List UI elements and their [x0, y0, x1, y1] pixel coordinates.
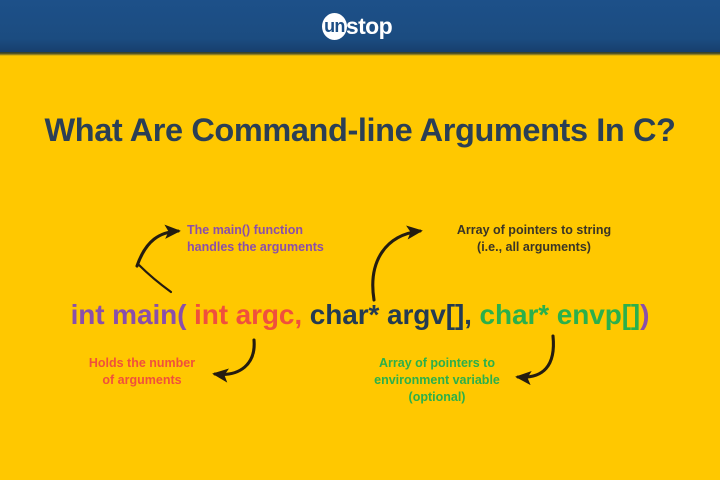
arrow-to-argc-annotation [215, 340, 254, 374]
logo-word-stop: stop [346, 13, 392, 40]
code-signature: int main( int argc, char* argv[], char* … [0, 299, 720, 331]
header-divider [0, 52, 720, 56]
page-title: What Are Command-line Arguments In C? [0, 112, 720, 149]
infographic-canvas: un stop What Are Command-line Arguments … [0, 0, 720, 480]
header-bar: un stop [0, 0, 720, 52]
code-token-main-open: int main( [71, 299, 194, 330]
annotation-main: The main() function handles the argument… [187, 222, 324, 256]
annotation-argc: Holds the number of arguments [66, 355, 218, 389]
arrow-to-envp-annotation [518, 336, 553, 377]
annotation-envp: Array of pointers to environment variabl… [352, 355, 522, 406]
code-token-argv: char* argv[], [310, 299, 480, 330]
unstop-logo[interactable]: un stop [322, 13, 392, 40]
annotation-argv: Array of pointers to string (i.e., all a… [434, 222, 634, 256]
code-token-close-paren: ) [640, 299, 649, 330]
logo-badge-un: un [322, 13, 347, 40]
code-token-envp: char* envp[] [480, 299, 641, 330]
arrow-to-main-annotation [137, 231, 178, 292]
code-token-argc: int argc, [194, 299, 310, 330]
arrow-to-argv-annotation [373, 231, 420, 300]
